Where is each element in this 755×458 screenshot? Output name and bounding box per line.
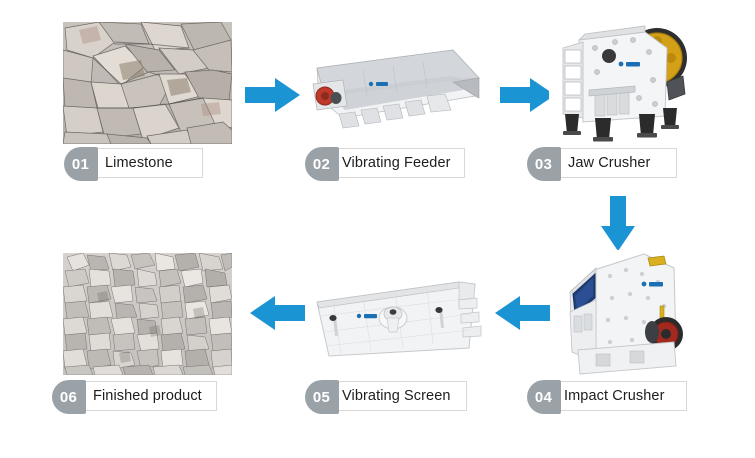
arrow-limestone-to-feeder: [245, 77, 300, 113]
step-05-badge: 05: [305, 380, 339, 414]
step-02-badge: 02: [305, 147, 339, 181]
step-01-label[interactable]: 01 Limestone: [74, 148, 203, 178]
step-05-label[interactable]: 05 Vibrating Screen: [315, 381, 467, 411]
vibrating-screen-photo: [303, 256, 483, 366]
arrow-impact-crusher-to-screen: [495, 295, 550, 331]
step-06-badge: 06: [52, 380, 86, 414]
step-03-label[interactable]: 03 Jaw Crusher: [537, 148, 677, 178]
jaw-crusher-photo: [549, 18, 689, 145]
step-04-badge: 04: [527, 380, 561, 414]
step-01-badge: 01: [64, 147, 98, 181]
step-03-badge: 03: [527, 147, 561, 181]
step-06-label[interactable]: 06 Finished product: [62, 381, 217, 411]
arrow-screen-to-finished-product: [250, 295, 305, 331]
arrow-jaw-crusher-to-impact-crusher: [600, 196, 636, 251]
arrow-feeder-to-jaw-crusher: [500, 77, 555, 113]
step-04-label[interactable]: 04 Impact Crusher: [537, 381, 687, 411]
vibrating-feeder-photo: [303, 40, 483, 145]
process-flow-diagram: 01 Limestone: [0, 0, 755, 458]
limestone-rocks-photo: [63, 22, 232, 144]
finished-product-photo: [63, 253, 232, 375]
step-02-label[interactable]: 02 Vibrating Feeder: [315, 148, 465, 178]
impact-crusher-photo: [548, 250, 693, 375]
